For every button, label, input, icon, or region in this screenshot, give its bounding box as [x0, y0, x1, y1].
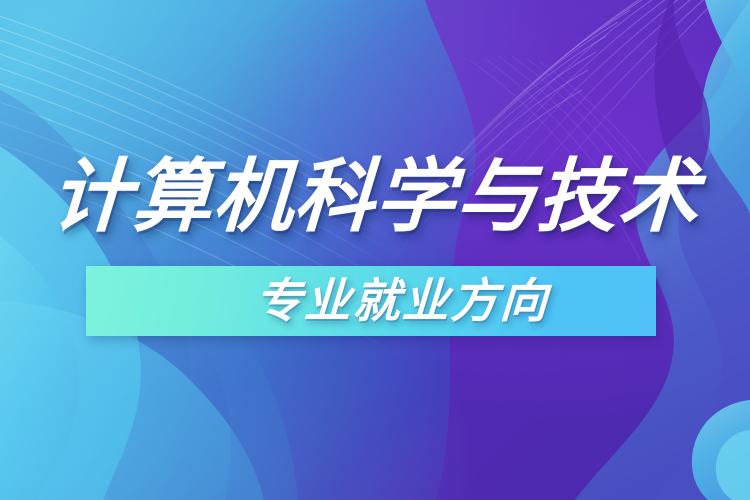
subtitle-text: 专业就业方向	[254, 278, 550, 325]
subtitle-container: 专业就业方向	[86, 266, 656, 336]
background-artwork	[0, 0, 750, 500]
promo-banner: 计算机科学与技术 专业就业方向	[0, 0, 750, 500]
subtitle-banner: 专业就业方向	[86, 266, 656, 336]
